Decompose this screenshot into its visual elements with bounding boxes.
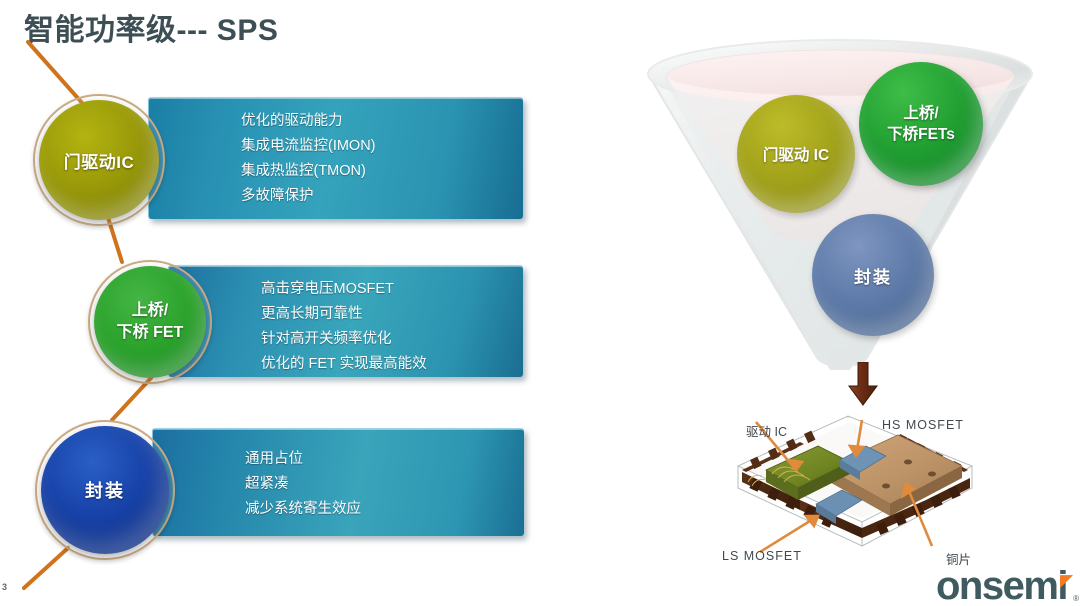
down-arrow-icon [848, 362, 878, 406]
bubble-label-line1: 上桥/ [903, 105, 938, 122]
logo-accent-icon: ◤ [1060, 571, 1073, 590]
onsemi-logo: onsemi◤® [936, 561, 1078, 606]
funnel-bubble-gate-driver: 门驱动 IC [737, 95, 855, 213]
bullet-text: 更高长期可靠性 [261, 302, 523, 327]
bullet-text: 优化的驱动能力 [241, 109, 523, 134]
info-banner-gate-driver: 优化的驱动能力 集成电流监控(IMON) 集成热监控(TMON) 多故障保护 [148, 97, 523, 219]
bullet-text: 通用占位 [245, 447, 524, 472]
bubble-label-line2: 下桥FETs [887, 126, 955, 143]
bubble-label: 门驱动 IC [763, 143, 829, 165]
bubble-label: 封装 [854, 263, 892, 288]
bullet-text: 集成热监控(TMON) [241, 159, 523, 184]
circle-node-fet: 上桥/ 下桥 FET [94, 266, 206, 378]
bullet-text: 减少系统寄生效应 [245, 497, 524, 522]
bubble-label: 上桥/ 下桥FETs [887, 103, 955, 145]
funnel-graphic [640, 26, 1040, 396]
info-banner-package: 通用占位 超紧凑 减少系统寄生效应 [152, 428, 524, 536]
circle-label: 门驱动IC [64, 148, 135, 173]
circle-label-line1: 上桥/ [132, 302, 168, 319]
bullet-text: 高击穿电压MOSFET [261, 277, 523, 302]
bullet-text: 超紧凑 [245, 472, 524, 497]
chip-label-hs-mosfet: HS MOSFET [882, 418, 964, 432]
bullet-text: 多故障保护 [241, 184, 523, 209]
circle-node-gate-driver: 门驱动IC [39, 100, 159, 220]
bullet-text: 针对高开关频率优化 [261, 327, 523, 352]
page-number: 3 [2, 582, 7, 592]
circle-label-line2: 下桥 FET [117, 324, 184, 341]
chip-label-ls-mosfet: LS MOSFET [722, 549, 802, 563]
slide-canvas: 智能功率级--- SPS 优化的驱动能力 集成电流监控(IMON) 集成热监控(… [0, 0, 1080, 606]
info-banner-fet: 高击穿电压MOSFET 更高长期可靠性 针对高开关频率优化 优化的 FET 实现… [168, 265, 523, 377]
page-title: 智能功率级--- SPS [24, 5, 278, 49]
chip-label-driver-ic: 驱动 IC [746, 421, 787, 440]
circle-label: 上桥/ 下桥 FET [117, 300, 184, 344]
funnel-bubble-package: 封装 [812, 214, 934, 336]
logo-wordmark: onsemi [936, 564, 1067, 606]
circle-node-package: 封装 [41, 426, 169, 554]
logo-trademark: ® [1073, 594, 1077, 603]
circle-label: 封装 [85, 477, 125, 503]
bullet-text: 集成电流监控(IMON) [241, 134, 523, 159]
funnel-bubble-fets: 上桥/ 下桥FETs [859, 62, 983, 186]
bullet-text: 优化的 FET 实现最高能效 [261, 352, 523, 377]
